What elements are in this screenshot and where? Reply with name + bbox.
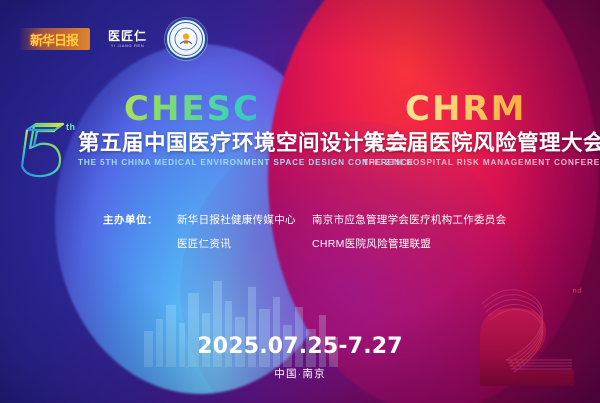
yijiangren-logo-en: YI JIANG REN <box>111 44 144 48</box>
chesc-acronym: CHESC <box>78 92 358 126</box>
xinhua-daily-logo-text: 新华日报 <box>30 30 78 49</box>
sponsor-logo-row: 新华日报 医匠仁 YI JIANG REN <box>18 18 207 60</box>
conference-titles: th CHESC 第五届中国医疗环境空间设计大会 THE 5TH CHINA M… <box>0 92 600 187</box>
left-conference-block: CHESC 第五届中国医疗环境空间设计大会 THE 5TH CHINA MEDI… <box>78 92 358 167</box>
edition-numeral-5-icon <box>14 120 70 182</box>
organizer-item: 医匠仁资讯 <box>177 236 312 251</box>
seal-inner-ring <box>169 22 203 56</box>
chrm-cn-title: 第二届医院风险管理大会 <box>363 131 595 155</box>
organizer-item: 南京市应急管理学会医疗机构工作委员会 <box>312 212 512 227</box>
yijiangren-logo-cn: 医匠仁 <box>108 30 147 42</box>
edition-suffix-th: th <box>66 122 76 132</box>
chrm-en-title: THE 2TH HOSPITAL RISK MANAGEMENT CONFERE… <box>363 159 595 167</box>
organizers-column-1: 新华日报社健康传媒中心 医匠仁资讯 <box>177 212 312 251</box>
conference-poster: 新华日报 医匠仁 YI JIANG REN <box>0 0 600 403</box>
decorative-suffix-nd: nd <box>572 288 582 295</box>
association-seal-logo <box>165 18 207 60</box>
chrm-acronym: CHRM <box>363 92 595 126</box>
organizers-column-2: 南京市应急管理学会医疗机构工作委员会 CHRM医院风险管理联盟 <box>312 212 512 251</box>
yijiangren-logo: 医匠仁 YI JIANG REN <box>108 30 147 48</box>
organizer-item: CHRM医院风险管理联盟 <box>312 236 512 251</box>
xinhua-daily-logo: 新华日报 <box>18 28 90 50</box>
event-location: 中国·南京 <box>0 366 600 381</box>
chesc-cn-title: 第五届中国医疗环境空间设计大会 <box>78 131 358 155</box>
organizers-label: 主办单位： <box>103 212 177 251</box>
event-date: 2025.07.25-7.27 <box>0 336 600 358</box>
event-date-section: 2025.07.25-7.27 中国·南京 <box>0 336 600 381</box>
organizers-section: 主办单位： 新华日报社健康传媒中心 医匠仁资讯 南京市应急管理学会医疗机构工作委… <box>103 212 512 251</box>
right-conference-block: CHRM 第二届医院风险管理大会 THE 2TH HOSPITAL RISK M… <box>363 92 595 167</box>
chesc-en-title: THE 5TH CHINA MEDICAL ENVIRONMENT SPACE … <box>78 159 358 167</box>
organizer-item: 新华日报社健康传媒中心 <box>177 212 312 227</box>
